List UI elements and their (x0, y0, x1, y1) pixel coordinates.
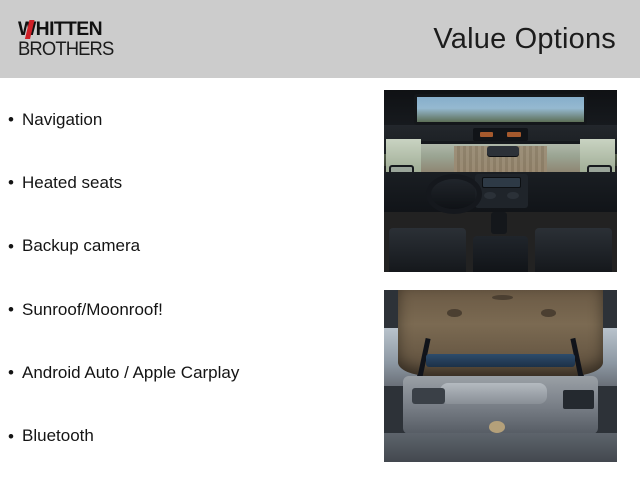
slide: WHITTEN BROTHERS Value Options • Navigat… (0, 0, 640, 480)
vehicle-interior-photo (384, 90, 617, 272)
center-armrest (473, 236, 529, 272)
open-sunroof (414, 94, 586, 125)
rearview-mirror (487, 146, 520, 155)
intake-manifold (440, 383, 547, 404)
list-item: • Sunroof/Moonroof! (0, 278, 370, 341)
front-seat-left (389, 228, 466, 272)
bullet-marker-icon: • (8, 364, 22, 381)
engine-bay-photo (384, 290, 617, 462)
list-item: • Heated seats (0, 151, 370, 214)
list-item-label: Backup camera (22, 236, 140, 256)
bullet-marker-icon: • (8, 301, 22, 318)
dome-light (507, 132, 521, 137)
bullet-marker-icon: • (8, 174, 22, 191)
whitten-brothers-logo: WHITTEN BROTHERS (18, 19, 110, 61)
dash-vent (484, 192, 496, 199)
logo-line-whitten: WHITTEN (18, 19, 112, 40)
list-item-label: Bluetooth (22, 426, 94, 446)
infotainment-screen (482, 177, 522, 188)
page-title: Value Options (433, 23, 616, 56)
dome-light (480, 132, 494, 137)
steering-wheel (426, 174, 482, 214)
hood-dimple (492, 295, 513, 300)
front-seat-right (535, 228, 612, 272)
list-item: • Bluetooth (0, 405, 370, 468)
slide-header: WHITTEN BROTHERS Value Options (0, 0, 640, 78)
list-item-label: Navigation (22, 110, 102, 130)
logo-brothers-text: BROTHERS (18, 40, 107, 60)
hood-dimple (541, 309, 555, 317)
bullet-marker-icon: • (8, 238, 22, 255)
oil-filler-cap (489, 421, 505, 433)
air-intake-tube (412, 388, 445, 403)
list-item: • Android Auto / Apple Carplay (0, 341, 370, 404)
battery (563, 390, 593, 409)
vehicle-interior-photo-content (384, 90, 617, 272)
list-item: • Backup camera (0, 215, 370, 278)
gear-shifter (491, 212, 507, 234)
bullet-marker-icon: • (8, 428, 22, 445)
list-item-label: Android Auto / Apple Carplay (22, 363, 239, 383)
value-options-list: • Navigation • Heated seats • Backup cam… (0, 88, 370, 468)
cowl-panel (426, 354, 575, 368)
bullet-marker-icon: • (8, 111, 22, 128)
list-item-label: Sunroof/Moonroof! (22, 300, 163, 320)
hood-dimple (447, 309, 461, 317)
list-item-label: Heated seats (22, 173, 122, 193)
list-item: • Navigation (0, 88, 370, 151)
front-bumper-cover (384, 433, 617, 462)
engine-bay-photo-content (384, 290, 617, 462)
